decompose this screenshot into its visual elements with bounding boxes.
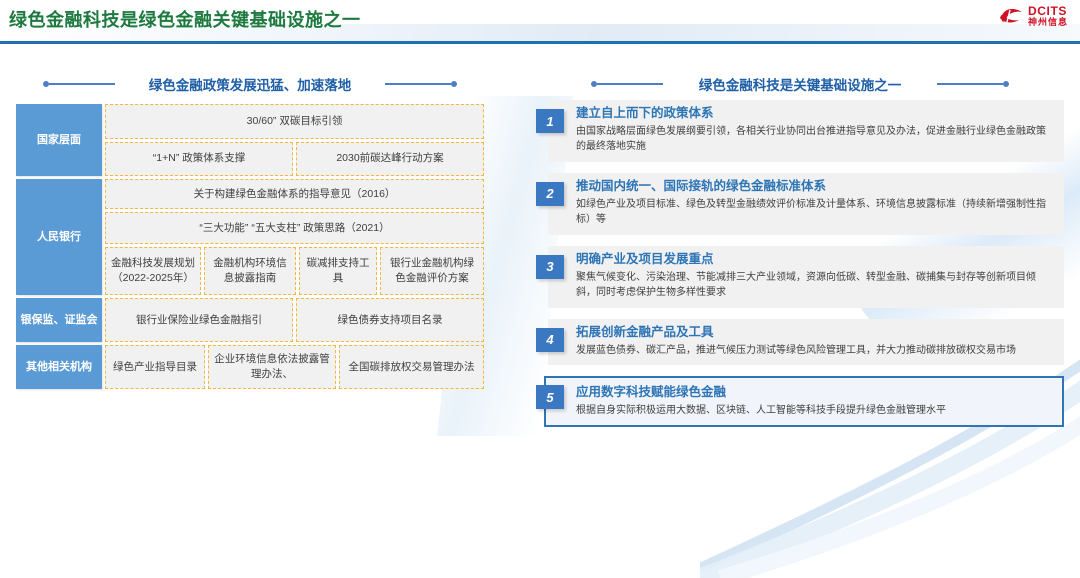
list-item-description: 根据自身实际积极运用大数据、区块链、人工智能等科技手段提升绿色金融管理水平 bbox=[576, 403, 1054, 419]
list-item-title: 应用数字科技赋能绿色金融 bbox=[576, 384, 1054, 401]
list-item[interactable]: 4 拓展创新金融产品及工具 发展蓝色债券、碳汇产品，推进气候压力测试等绿色风险管… bbox=[536, 319, 1064, 365]
list-item[interactable]: 2 推动国内统一、国际接轨的绿色金融标准体系 如绿色产业及项目标准、绿色及转型金… bbox=[536, 173, 1064, 235]
policy-cell[interactable]: “三大功能” “五大支柱” 政策思路（2021） bbox=[105, 212, 484, 244]
policy-cell[interactable]: 金融机构环境信息披露指南 bbox=[204, 247, 296, 295]
decoration-line-right bbox=[937, 81, 1009, 87]
policy-cell[interactable]: 绿色产业指导目录 bbox=[105, 345, 205, 389]
brand-logo: DCITS 神州信息 bbox=[998, 5, 1068, 27]
policy-cell[interactable]: 银行业金融机构绿色金融评价方案 bbox=[380, 247, 484, 295]
category-label-national: 国家层面 bbox=[16, 104, 102, 176]
list-item-highlighted[interactable]: 5 应用数字科技赋能绿色金融 根据自身实际积极运用大数据、区块链、人工智能等科技… bbox=[536, 376, 1064, 427]
policy-table: 国家层面 30/60” 双碳目标引领 “1+N” 政策体系支撑 2030前碳达峰… bbox=[16, 104, 484, 389]
table-row: 其他相关机构 绿色产业指导目录 企业环境信息依法披露管理办法、 全国碳排放权交易… bbox=[16, 345, 484, 389]
list-item-description: 聚焦气候变化、污染治理、节能减排三大产业领域，资源向低碳、转型金融、碳捕集与封存… bbox=[576, 270, 1054, 301]
list-item-description: 如绿色产业及项目标准、绿色及转型金融绩效评价标准及计量体系、环境信息披露标准（持… bbox=[576, 197, 1054, 228]
list-item-title: 推动国内统一、国际接轨的绿色金融标准体系 bbox=[576, 178, 1054, 195]
list-item-number-badge: 1 bbox=[536, 109, 564, 133]
policy-cell[interactable]: 30/60” 双碳目标引领 bbox=[105, 104, 484, 139]
left-panel-title: 绿色金融政策发展迅猛、加速落地 bbox=[139, 74, 362, 94]
list-item-number-badge: 4 bbox=[536, 328, 564, 352]
table-row: 银保监、证监会 银行业保险业绿色金融指引 绿色债券支持项目名录 bbox=[16, 298, 484, 342]
decoration-line-left bbox=[43, 81, 115, 87]
list-item-number-badge: 3 bbox=[536, 255, 564, 279]
category-label-cbirc: 银保监、证监会 bbox=[16, 298, 102, 342]
policy-cell[interactable]: 企业环境信息依法披露管理办法、 bbox=[208, 345, 336, 389]
policy-cell[interactable]: 银行业保险业绿色金融指引 bbox=[105, 298, 293, 342]
title-divider bbox=[0, 41, 1080, 44]
right-panel-header: 绿色金融科技是关键基础设施之一 bbox=[536, 74, 1064, 94]
table-row: 国家层面 30/60” 双碳目标引领 “1+N” 政策体系支撑 2030前碳达峰… bbox=[16, 104, 484, 176]
list-item-description: 发展蓝色债券、碳汇产品，推进气候压力测试等绿色风险管理工具，并大力推动碳排放碳权… bbox=[576, 343, 1054, 359]
infrastructure-list: 1 建立自上而下的政策体系 由国家战略层面绿色发展纲要引领，各相关行业协同出台推… bbox=[536, 100, 1064, 427]
dcits-logo-icon bbox=[998, 6, 1024, 26]
list-item-title: 建立自上而下的政策体系 bbox=[576, 105, 1054, 122]
brand-name-cn: 神州信息 bbox=[1028, 18, 1068, 27]
page-title: 绿色金融科技是绿色金融关键基础设施之一 bbox=[9, 6, 361, 32]
list-item-number-badge: 5 bbox=[536, 385, 564, 409]
policy-cell[interactable]: 2030前碳达峰行动方案 bbox=[296, 142, 484, 177]
category-label-pboc: 人民银行 bbox=[16, 179, 102, 295]
decoration-line-right bbox=[385, 81, 457, 87]
list-item-title: 明确产业及项目发展重点 bbox=[576, 251, 1054, 268]
policy-cell[interactable]: “1+N” 政策体系支撑 bbox=[105, 142, 293, 177]
policy-cell[interactable]: 金融科技发展规划（2022-2025年） bbox=[105, 247, 201, 295]
policy-cell[interactable]: 绿色债券支持项目名录 bbox=[296, 298, 484, 342]
list-item-description: 由国家战略层面绿色发展纲要引领，各相关行业协同出台推进指导意见及办法，促进金融行… bbox=[576, 124, 1054, 155]
policy-cell[interactable]: 碳减排支持工具 bbox=[299, 247, 377, 295]
right-panel-title: 绿色金融科技是关键基础设施之一 bbox=[689, 74, 912, 94]
category-label-other: 其他相关机构 bbox=[16, 345, 102, 389]
policy-cell[interactable]: 关于构建绿色金融体系的指导意见（2016） bbox=[105, 179, 484, 209]
policy-cell[interactable]: 全国碳排放权交易管理办法 bbox=[339, 345, 484, 389]
list-item[interactable]: 3 明确产业及项目发展重点 聚焦气候变化、污染治理、节能减排三大产业领域，资源向… bbox=[536, 246, 1064, 308]
decoration-line-left bbox=[591, 81, 663, 87]
left-panel-header: 绿色金融政策发展迅猛、加速落地 bbox=[16, 74, 484, 94]
brand-name-en: DCITS bbox=[1028, 5, 1068, 17]
list-item[interactable]: 1 建立自上而下的政策体系 由国家战略层面绿色发展纲要引领，各相关行业协同出台推… bbox=[536, 100, 1064, 162]
list-item-title: 拓展创新金融产品及工具 bbox=[576, 324, 1054, 341]
table-row: 人民银行 关于构建绿色金融体系的指导意见（2016） “三大功能” “五大支柱”… bbox=[16, 179, 484, 295]
list-item-number-badge: 2 bbox=[536, 182, 564, 206]
